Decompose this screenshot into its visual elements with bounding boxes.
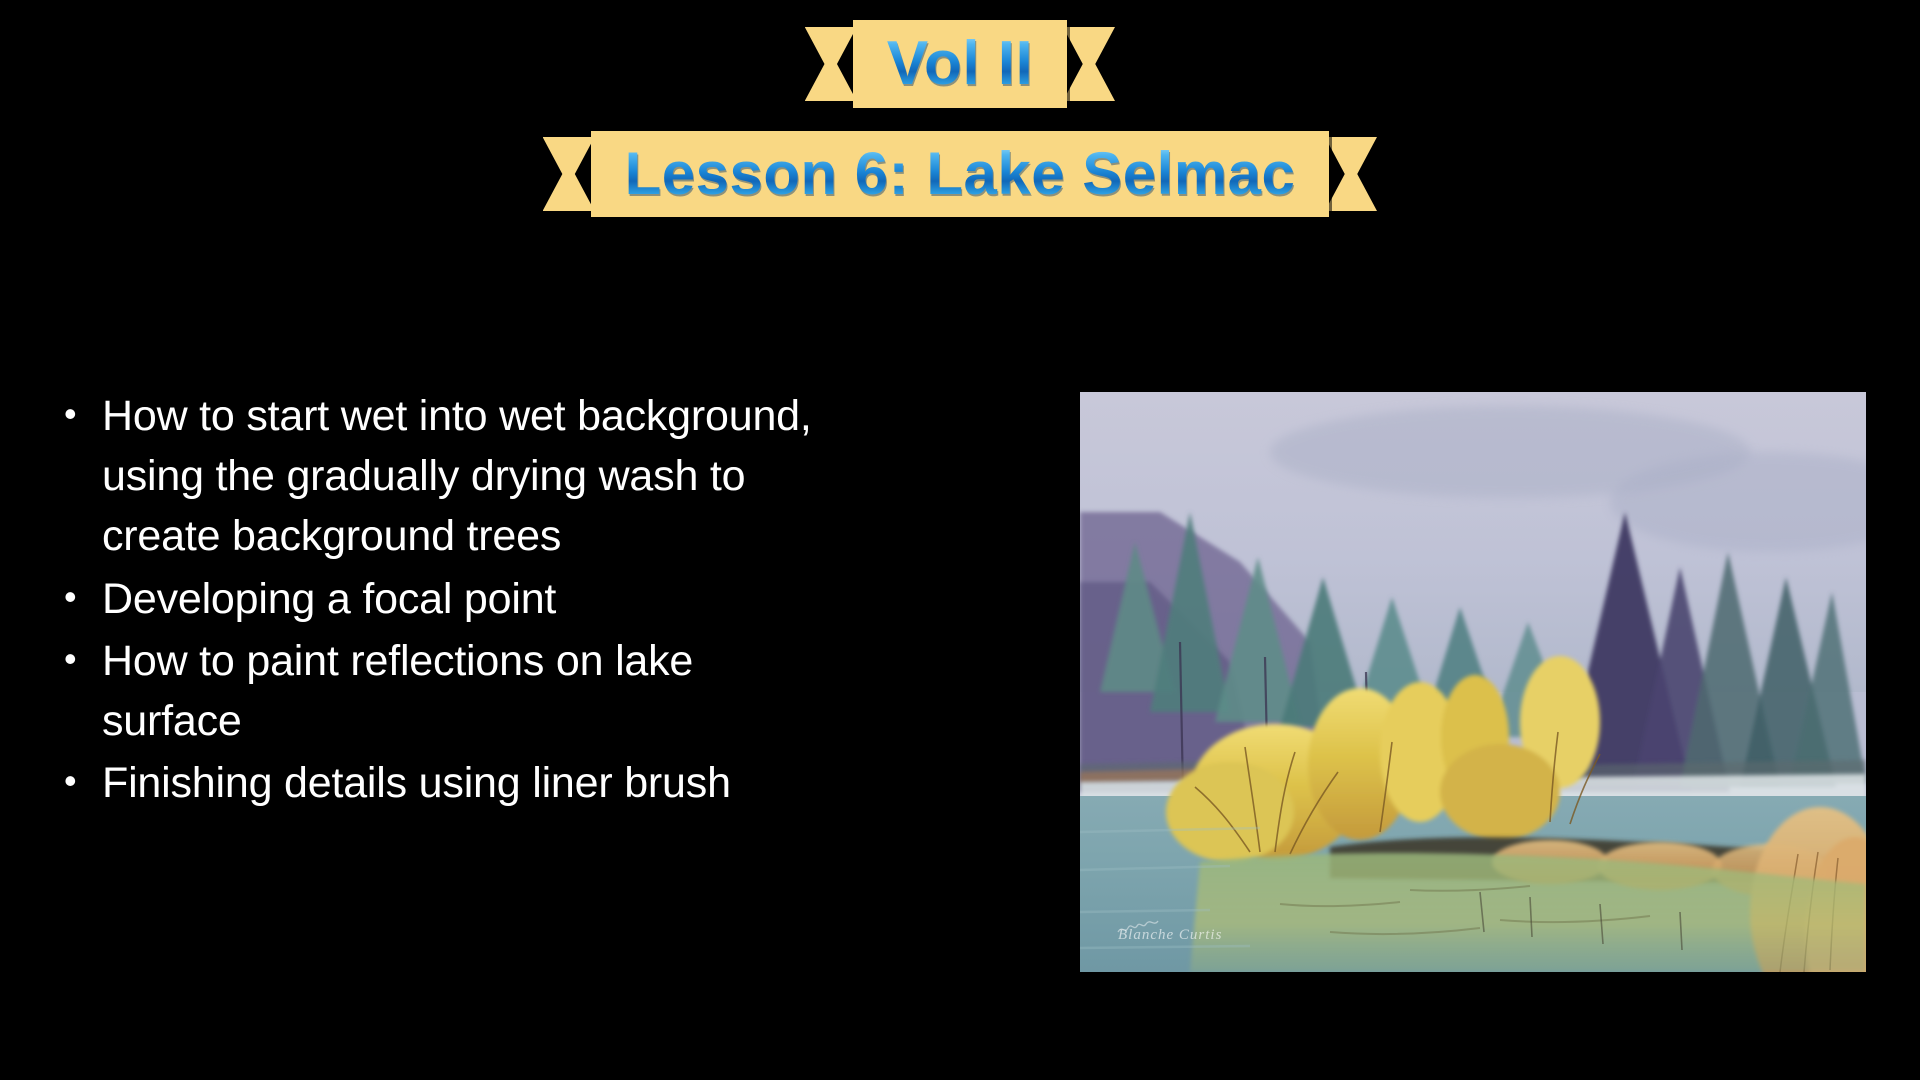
ribbon-tail-left-icon xyxy=(543,137,595,211)
bullet-marker-icon: • xyxy=(56,386,102,442)
ribbon-tail-right-icon xyxy=(1325,137,1377,211)
painting-artwork xyxy=(1080,392,1866,972)
bullet-marker-icon: • xyxy=(56,631,102,687)
ribbon-volume: Vol II xyxy=(805,20,1116,108)
list-item-label: How to paint reflections on lake surface xyxy=(102,631,836,751)
watercolor-painting-image: Blanche Curtis xyxy=(1080,392,1866,972)
ribbon-tail-right-icon xyxy=(1063,27,1115,101)
list-item: • Developing a focal point xyxy=(56,569,836,629)
bullet-marker-icon: • xyxy=(56,569,102,625)
lesson-title: Lesson 6: Lake Selmac xyxy=(625,144,1296,204)
lesson-objectives-list: • How to start wet into wet background, … xyxy=(56,386,836,815)
list-item: • How to start wet into wet background, … xyxy=(56,386,836,567)
list-item: • Finishing details using liner brush xyxy=(56,753,836,813)
bullet-marker-icon: • xyxy=(56,753,102,809)
list-item-label: Finishing details using liner brush xyxy=(102,753,836,813)
ribbon-plate-volume: Vol II xyxy=(853,20,1068,108)
volume-label: Vol II xyxy=(887,33,1034,95)
ribbon-plate-lesson: Lesson 6: Lake Selmac xyxy=(591,131,1330,217)
lesson-banner: Lesson 6: Lake Selmac xyxy=(0,131,1920,217)
list-item-label: Developing a focal point xyxy=(102,569,836,629)
ribbon-lesson: Lesson 6: Lake Selmac xyxy=(543,131,1378,217)
ribbon-tail-left-icon xyxy=(805,27,857,101)
list-item-label: How to start wet into wet background, us… xyxy=(102,386,836,567)
volume-banner: Vol II xyxy=(0,20,1920,108)
list-item: • How to paint reflections on lake surfa… xyxy=(56,631,836,751)
presentation-slide: Vol II Lesson 6: Lake Selmac • How to st… xyxy=(0,0,1920,1080)
